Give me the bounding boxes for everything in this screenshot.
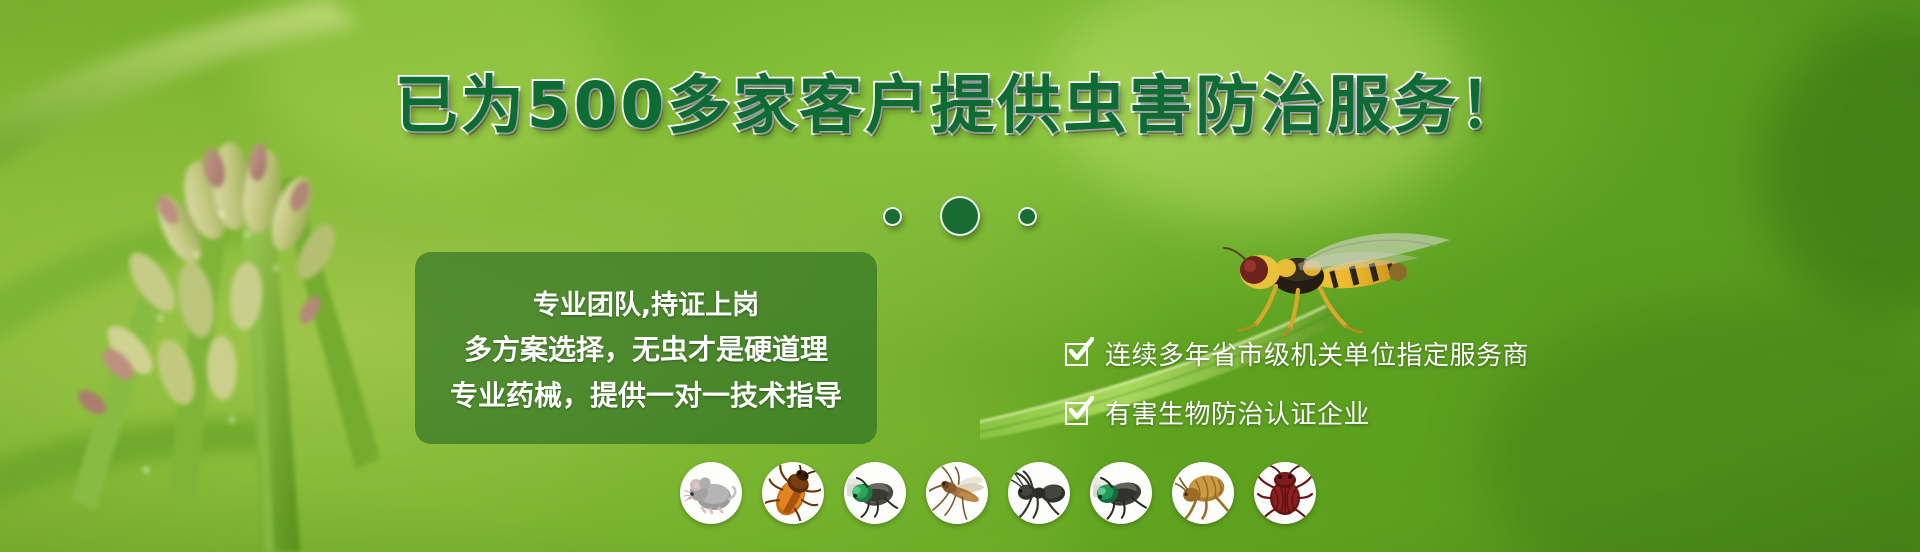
checkbox-checked-icon [1065, 341, 1091, 367]
headline: 已为500多家客户提供虫害防治服务！ [0, 74, 1920, 137]
credentials-checklist: 连续多年省市级机关单位指定服务商 有害生物防治认证企业 [1065, 335, 1529, 431]
pest-icon-blowfly[interactable] [1090, 462, 1152, 524]
feature-line-1: 专业团队,持证上岗 [533, 283, 759, 322]
pest-icon-bedbug[interactable] [1254, 462, 1316, 524]
feature-panel: 专业团队,持证上岗 多方案选择，无虫才是硬道理 专业药械，提供一对一技术指导 [415, 252, 877, 444]
pest-icon-cockroach[interactable] [762, 462, 824, 524]
dot-small-right-icon [1018, 207, 1037, 226]
pest-icon-greenbottle-fly[interactable] [844, 462, 906, 524]
checklist-item: 连续多年省市级机关单位指定服务商 [1065, 335, 1529, 372]
pest-icon-mouse[interactable] [680, 462, 742, 524]
promo-banner: 已为500多家客户提供虫害防治服务！ 专业团队,持证上岗 多方案选择，无虫才是硬… [0, 0, 1920, 552]
checklist-item-label: 连续多年省市级机关单位指定服务商 [1105, 335, 1529, 372]
dot-large-center-icon [940, 196, 980, 236]
headline-text: 已为500多家客户提供虫害防治服务！ [395, 74, 1526, 137]
pest-icon-flea[interactable] [1172, 462, 1234, 524]
pest-icon-strip [680, 462, 1316, 524]
pest-icon-ant[interactable] [1008, 462, 1070, 524]
feature-line-3: 专业药械，提供一对一技术指导 [450, 374, 842, 414]
dot-small-left-icon [883, 207, 902, 226]
decorative-dots [0, 196, 1920, 236]
checklist-item: 有害生物防治认证企业 [1065, 394, 1529, 431]
pest-icon-mosquito[interactable] [926, 462, 988, 524]
checklist-item-label: 有害生物防治认证企业 [1105, 394, 1370, 431]
feature-line-2: 多方案选择，无虫才是硬道理 [464, 328, 828, 368]
checkbox-checked-icon [1065, 400, 1091, 426]
